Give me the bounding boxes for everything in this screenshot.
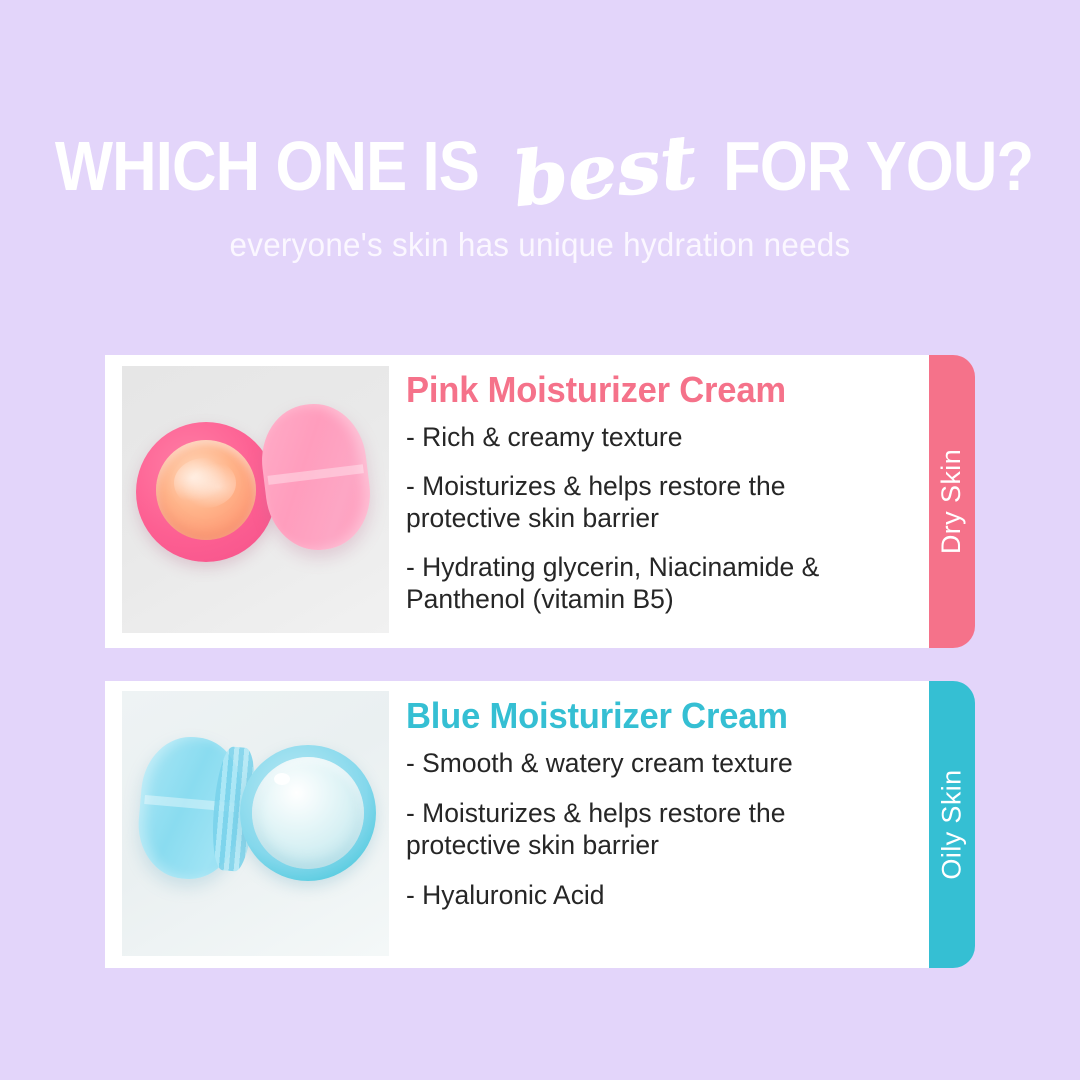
title-script-word: best <box>499 124 710 219</box>
product-title-pink: Pink Moisturizer Cream <box>406 369 891 410</box>
product-bullet: - Hyaluronic Acid <box>406 880 867 912</box>
jar-lid-icon <box>255 398 376 556</box>
skin-type-tab-label: Oily Skin <box>937 769 968 879</box>
product-photo-pink <box>122 366 389 633</box>
product-bullet: - Moisturizes & helps restore the protec… <box>406 471 867 535</box>
cream-swirl-icon <box>174 458 236 508</box>
card-content-blue: Blue Moisturizer Cream - Smooth & watery… <box>406 695 911 930</box>
page-title: WHICH ONE IS best FOR YOU? <box>0 128 1080 202</box>
page-subtitle: everyone's skin has unique hydration nee… <box>27 226 1053 264</box>
infographic-page: WHICH ONE IS best FOR YOU? everyone's sk… <box>0 0 1080 1080</box>
product-card-pink: Pink Moisturizer Cream - Rich & creamy t… <box>105 355 929 648</box>
product-photo-blue <box>122 691 389 956</box>
jar-cream-icon <box>252 757 364 869</box>
skin-type-tab-label: Dry Skin <box>937 449 968 554</box>
header: WHICH ONE IS best FOR YOU? everyone's sk… <box>0 128 1080 264</box>
product-card-blue: Blue Moisturizer Cream - Smooth & watery… <box>105 681 929 968</box>
product-bullet: - Smooth & watery cream texture <box>406 748 867 780</box>
product-bullet: - Moisturizes & helps restore the protec… <box>406 798 867 862</box>
product-bullet: - Hydrating glycerin, Niacinamide & Pant… <box>406 552 867 616</box>
title-prefix: WHICH ONE IS <box>54 131 478 201</box>
cream-highlight-icon <box>274 773 290 785</box>
skin-type-tab-dry: Dry Skin <box>929 355 975 648</box>
product-title-blue: Blue Moisturizer Cream <box>406 695 891 736</box>
product-bullet: - Rich & creamy texture <box>406 422 867 454</box>
title-suffix: FOR YOU? <box>723 131 1033 201</box>
skin-type-tab-oily: Oily Skin <box>929 681 975 968</box>
card-content-pink: Pink Moisturizer Cream - Rich & creamy t… <box>406 369 911 633</box>
